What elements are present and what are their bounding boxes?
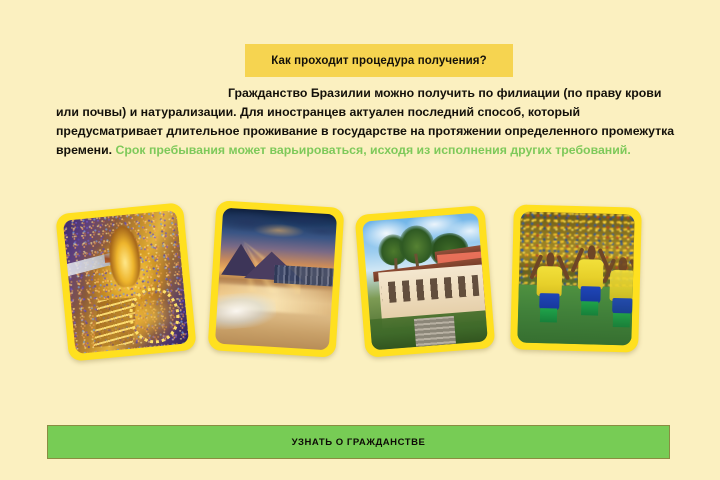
rio-beach-sunset-photo (215, 208, 337, 351)
learn-about-citizenship-button[interactable]: УЗНАТЬ О ГРАЖДАНСТВЕ (47, 425, 670, 459)
football-player-background (609, 251, 635, 328)
ocean-surf (215, 291, 278, 331)
player-jersey (610, 270, 635, 301)
brazil-footballers-photo (517, 212, 634, 346)
player-jersey (537, 266, 563, 297)
player-socks (613, 313, 630, 327)
football-player-right (577, 239, 604, 316)
photo-card-beach[interactable] (208, 200, 345, 358)
carnival-feather-plume (101, 218, 148, 262)
football-player-left (536, 246, 563, 323)
player-socks (540, 308, 557, 322)
stone-steps (414, 315, 456, 346)
cta-button-label: УЗНАТЬ О ГРАЖДАНСТВЕ (292, 437, 426, 448)
photo-card-colonial-house[interactable] (355, 205, 496, 358)
colonial-house-photo (362, 213, 488, 351)
player-socks (581, 302, 598, 316)
player-jersey (578, 259, 604, 290)
page-title: Как проходит процедура получения? (271, 55, 487, 67)
carnival-parade-photo (63, 210, 189, 354)
body-text-highlight: Срок пребывания может варьироваться, исх… (116, 143, 631, 157)
photo-card-footballers[interactable] (510, 204, 642, 352)
city-skyline (273, 265, 336, 286)
heading-banner: Как проходит процедура получения? (245, 44, 513, 77)
carnival-grandstand-band (63, 252, 118, 277)
carnival-float-wheel (127, 285, 182, 346)
body-paragraph: Гражданство Бразилии можно получить по ф… (56, 84, 686, 160)
photo-gallery (0, 198, 720, 378)
photo-card-carnival[interactable] (55, 202, 197, 362)
